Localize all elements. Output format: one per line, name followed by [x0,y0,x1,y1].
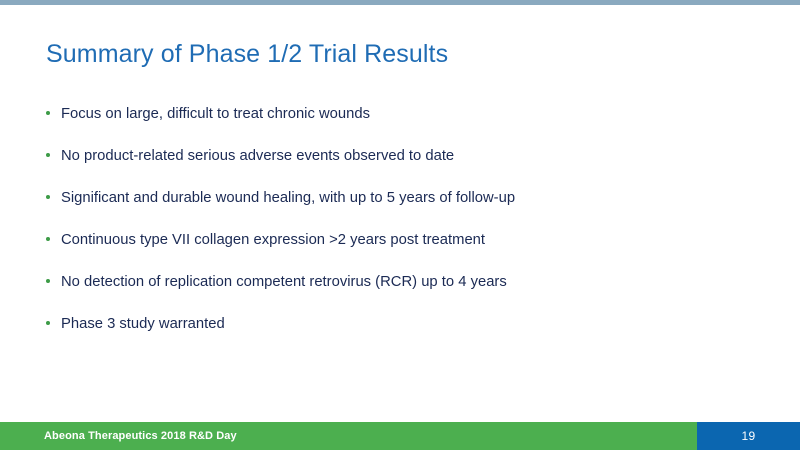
bullet-dot-icon [46,321,50,325]
top-accent-rule [0,0,800,5]
list-item: Continuous type VII collagen expression … [44,219,744,261]
list-item: No product-related serious adverse event… [44,135,744,177]
bullet-dot-icon [46,111,50,115]
list-item-label: Phase 3 study warranted [61,314,225,334]
bullet-dot-icon [46,237,50,241]
list-item-label: Continuous type VII collagen expression … [61,230,485,250]
list-item-label: Significant and durable wound healing, w… [61,188,515,208]
bullet-dot-icon [46,279,50,283]
list-item: Phase 3 study warranted [44,303,744,345]
list-item-label: Focus on large, difficult to treat chron… [61,104,370,124]
list-item: Focus on large, difficult to treat chron… [44,93,744,135]
slide-number: 19 [742,428,756,444]
list-item: No detection of replication competent re… [44,261,744,303]
bullet-dot-icon [46,195,50,199]
list-item: Significant and durable wound healing, w… [44,177,744,219]
list-item-label: No product-related serious adverse event… [61,146,454,166]
footer-label: Abeona Therapeutics 2018 R&D Day [44,427,237,445]
bullet-dot-icon [46,153,50,157]
list-item-label: No detection of replication competent re… [61,272,507,292]
slide: Summary of Phase 1/2 Trial Results Focus… [0,0,800,450]
bullet-list: Focus on large, difficult to treat chron… [44,93,744,345]
slide-number-box: 19 [697,422,800,450]
page-title: Summary of Phase 1/2 Trial Results [46,39,448,69]
